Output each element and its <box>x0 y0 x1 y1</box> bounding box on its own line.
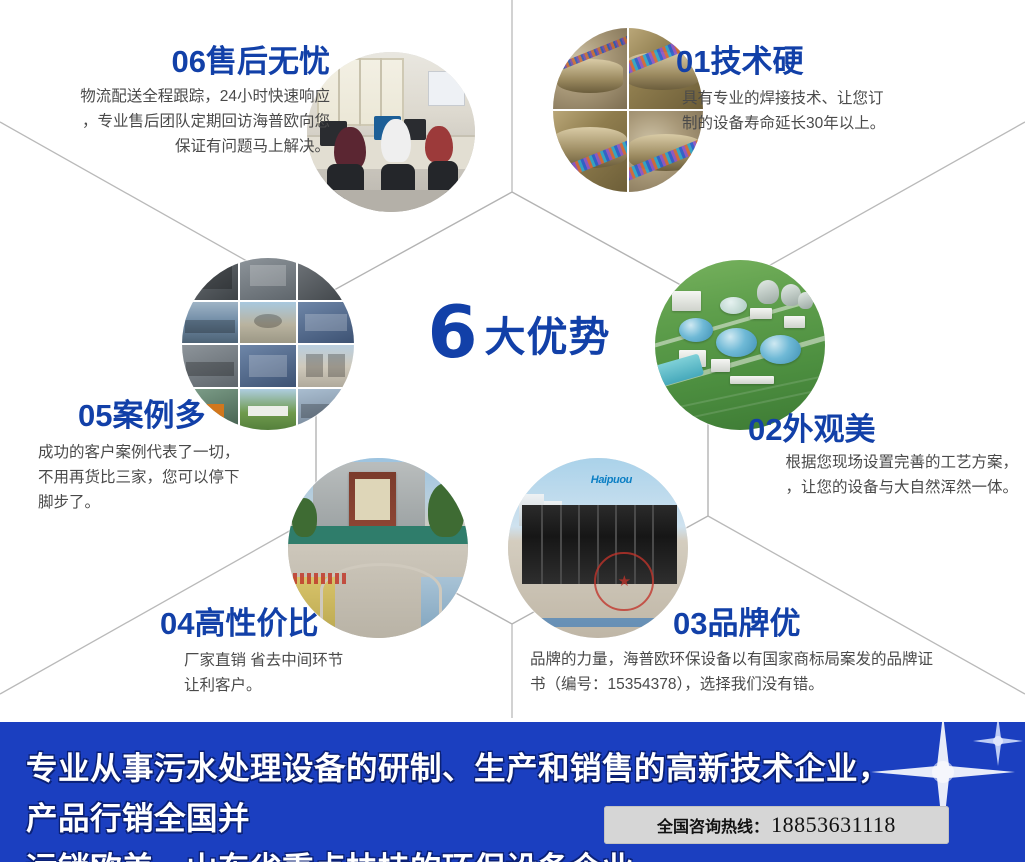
feature-block-06: 06售后无忧 物流配送全程跟踪，24小时快速响应 ，专业售后团队定期回访海普欧向… <box>10 46 330 159</box>
feature-block-01: 01技术硬 具有专业的焊接技术、让您订 制的设备寿命延长30年以上。 <box>676 46 1016 136</box>
hotline-number: 18853631118 <box>771 812 896 838</box>
center-label-text: 大优势 <box>485 314 611 360</box>
feature-block-02: 02外观美 根据您现场设置完善的工艺方案， ，让您的设备与大自然浑然一体。 <box>628 414 1018 500</box>
banner-headline: 专业从事污水处理设备的研制、生产和销售的高新技术企业，产品行销全国并 远销欧美，… <box>26 744 906 862</box>
feature-title-05: 05案例多 <box>78 400 338 431</box>
feature-block-03: 03品牌优 品牌的力量，海普欧环保设备以有国家商标局案发的品牌证 书（编号：15… <box>530 608 1022 697</box>
feature-block-05: 05案例多 成功的客户案例代表了一切， 不用再货比三家，您可以停下 脚步了。 <box>38 400 338 515</box>
feature-desc-05: 成功的客户案例代表了一切， 不用再货比三家，您可以停下 脚步了。 <box>38 440 338 515</box>
feature-title-04: 04高性价比 <box>160 608 490 639</box>
feature-title-03: 03品牌优 <box>673 608 1022 639</box>
feature-desc-04: 厂家直销 省去中间环节 让利客户。 <box>184 648 490 698</box>
trademark-seal: ★ <box>594 552 654 612</box>
aerial-treatment-plant-photo <box>655 260 825 430</box>
office-staff-photo <box>307 52 475 212</box>
center-title: 6大优势 <box>404 296 634 368</box>
feature-title-06: 06售后无忧 <box>10 46 330 77</box>
brand-logo-text: Haipuou <box>591 474 632 486</box>
feature-title-01: 01技术硬 <box>676 46 1016 77</box>
feature-title-02: 02外观美 <box>748 414 1018 445</box>
feature-image-02 <box>655 260 825 430</box>
feature-image-06 <box>307 52 475 212</box>
feature-desc-03: 品牌的力量，海普欧环保设备以有国家商标局案发的品牌证 书（编号：15354378… <box>530 647 1022 697</box>
feature-block-04: 04高性价比 厂家直销 省去中间环节 让利客户。 <box>160 608 490 698</box>
infographic-root: Haipuou ★ 6大优势 06售后无忧 物流配送全程跟踪，24小时快速响应 … <box>0 0 1025 862</box>
feature-desc-02: 根据您现场设置完善的工艺方案， ，让您的设备与大自然浑然一体。 <box>628 450 1018 500</box>
feature-desc-01: 具有专业的焊接技术、让您订 制的设备寿命延长30年以上。 <box>682 86 1016 136</box>
center-number: 6 <box>427 290 477 374</box>
hotline-label: 全国咨询热线： <box>657 813 769 837</box>
feature-desc-06: 物流配送全程跟踪，24小时快速响应 ，专业售后团队定期回访海普欧向您 保证有问题… <box>10 84 330 159</box>
hotline-box[interactable]: 全国咨询热线： 18853631118 <box>604 806 949 844</box>
